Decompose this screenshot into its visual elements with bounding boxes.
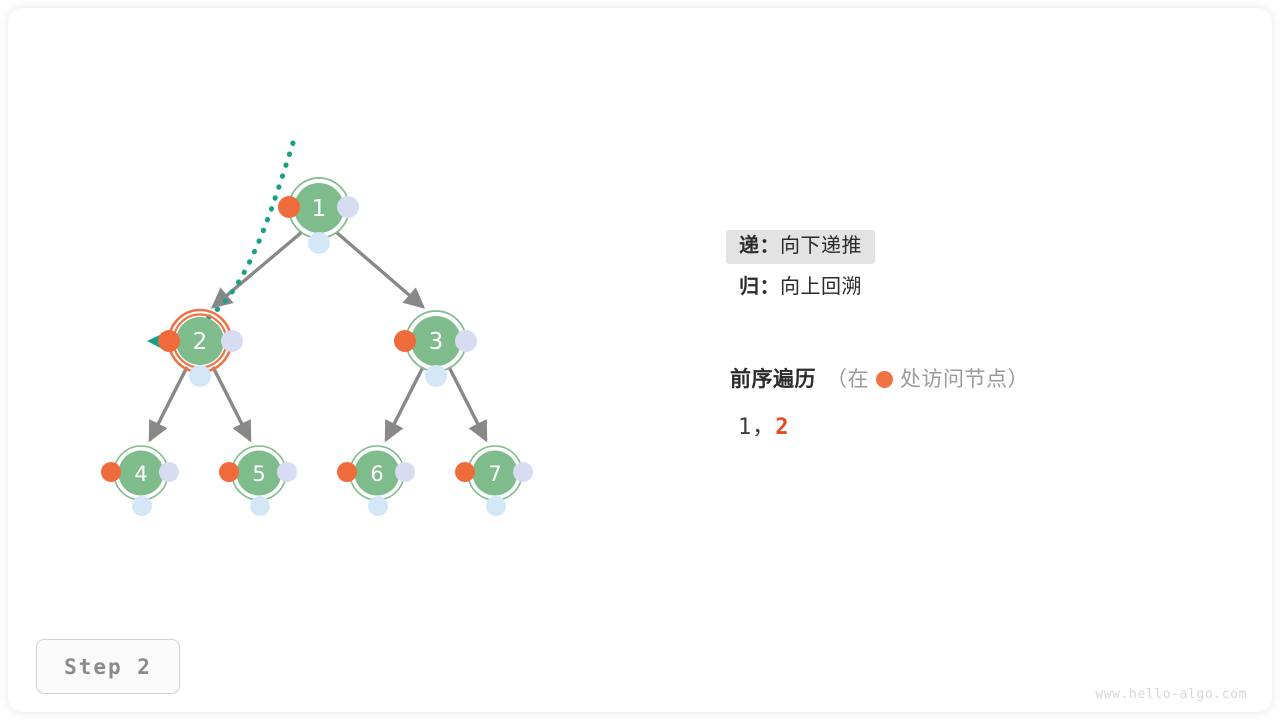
traversal-sequence: 1，2 xyxy=(738,409,790,441)
edge-3-7 xyxy=(449,367,486,440)
node-7-blue-dot xyxy=(486,496,506,516)
tree-node-4[interactable]: 4 xyxy=(101,446,179,516)
site-watermark: www.hello-algo.com xyxy=(1095,687,1247,702)
node-4-orange-dot xyxy=(101,462,121,482)
tree-node-6[interactable]: 6 xyxy=(337,446,415,516)
tree-node-3[interactable]: 3 xyxy=(394,311,477,387)
edge-2-4 xyxy=(150,367,187,440)
sequence-current: 2 xyxy=(775,415,789,440)
node-7-lavender-dot xyxy=(513,462,533,482)
node-5-orange-dot xyxy=(219,462,239,482)
node-7-orange-dot xyxy=(455,462,475,482)
node-3-label: 3 xyxy=(429,329,444,355)
node-5-lavender-dot xyxy=(277,462,297,482)
explanation-panel: 递：向下递推 归：向上回溯 xyxy=(726,230,1246,297)
edge-3-6 xyxy=(386,367,423,440)
ascend-text: 向上回溯 xyxy=(780,276,862,298)
node-5-label: 5 xyxy=(252,462,265,486)
node-5-blue-dot xyxy=(250,496,270,516)
node-1-orange-dot xyxy=(278,196,300,218)
node-3-lavender-dot xyxy=(455,330,477,352)
traversal-legend-row: 前序遍历 （在 处访问节点） xyxy=(730,363,1029,393)
node-6-blue-dot xyxy=(368,496,388,516)
sequence-visited: 1， xyxy=(738,415,775,440)
ascend-legend-line: 归：向上回溯 xyxy=(726,277,1246,297)
tree-node-2[interactable]: 2 xyxy=(158,310,243,387)
node-1-label: 1 xyxy=(312,196,327,222)
node-2-blue-dot xyxy=(189,365,211,387)
node-6-lavender-dot xyxy=(395,462,415,482)
traversal-title: 前序遍历 xyxy=(730,363,816,393)
recursion-descend-path xyxy=(147,143,293,352)
tree-node-7[interactable]: 7 xyxy=(455,446,533,516)
tree-node-5[interactable]: 5 xyxy=(219,446,297,516)
step-indicator: Step 2 xyxy=(36,639,180,694)
node-7-label: 7 xyxy=(488,462,501,486)
descend-keyword: 递： xyxy=(739,235,780,257)
descend-text: 向下递推 xyxy=(780,235,862,257)
binary-tree-diagram: 1 2 3 xyxy=(0,0,1280,720)
edge-2-5 xyxy=(213,367,250,440)
node-6-label: 6 xyxy=(370,462,383,486)
node-2-lavender-dot xyxy=(221,330,243,352)
node-4-lavender-dot xyxy=(159,462,179,482)
illustration-stage: 1 2 3 xyxy=(0,0,1280,720)
orange-visit-dot-icon xyxy=(876,371,893,388)
legend-suffix: 处访问节点） xyxy=(900,363,1029,393)
node-4-blue-dot xyxy=(132,496,152,516)
descend-legend-badge: 递：向下递推 xyxy=(726,230,875,264)
watermark-text: www.hello-algo.com xyxy=(1095,687,1247,702)
node-1-lavender-dot xyxy=(337,196,359,218)
node-4-label: 4 xyxy=(134,462,147,486)
legend-prefix: （在 xyxy=(826,363,869,393)
node-2-orange-dot xyxy=(158,330,180,352)
node-3-orange-dot xyxy=(394,330,416,352)
ascend-keyword: 归： xyxy=(739,276,780,298)
edge-1-3 xyxy=(336,232,423,307)
node-3-blue-dot xyxy=(425,365,447,387)
node-2-label: 2 xyxy=(193,329,208,355)
node-1-blue-dot xyxy=(308,232,330,254)
node-6-orange-dot xyxy=(337,462,357,482)
step-indicator-label: Step 2 xyxy=(64,655,152,679)
page-root: 1 2 3 xyxy=(0,0,1280,720)
